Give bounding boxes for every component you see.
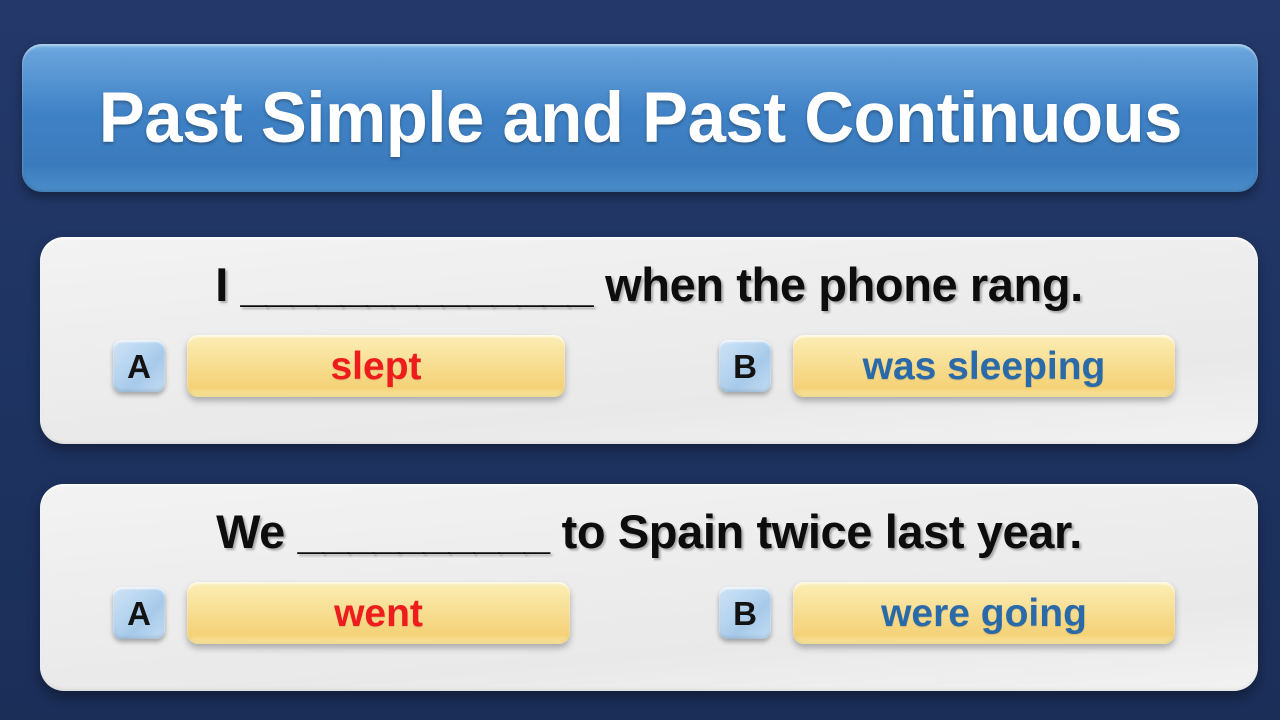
question-2-option-a[interactable]: A went — [113, 582, 570, 644]
question-1-blank: ______________ — [241, 258, 593, 311]
question-1-options: A slept B was sleeping — [40, 335, 1258, 415]
question-2-sentence-before: We — [216, 505, 298, 558]
question-1-sentence: I ______________ when the phone rang. — [40, 257, 1258, 312]
answer-button-2a[interactable]: went — [187, 582, 570, 644]
question-1-option-b[interactable]: B was sleeping — [719, 335, 1175, 397]
question-1-sentence-after: when the phone rang. — [592, 258, 1082, 311]
question-2-option-b[interactable]: B were going — [719, 582, 1175, 644]
page-title: Past Simple and Past Continuous — [98, 83, 1181, 154]
question-card-1: I ______________ when the phone rang. A … — [40, 237, 1258, 444]
option-badge-b: B — [719, 587, 771, 639]
question-1-option-a[interactable]: A slept — [113, 335, 565, 397]
slide-root: Past Simple and Past Continuous I ______… — [0, 0, 1280, 720]
question-card-2: We __________ to Spain twice last year. … — [40, 484, 1258, 691]
question-2-options: A went B were going — [40, 582, 1258, 662]
answer-button-1b[interactable]: was sleeping — [793, 335, 1175, 397]
question-2-blank: __________ — [298, 505, 549, 558]
answer-button-1a[interactable]: slept — [187, 335, 565, 397]
question-2-sentence-after: to Spain twice last year. — [549, 505, 1082, 558]
option-badge-a: A — [113, 587, 165, 639]
question-2-sentence: We __________ to Spain twice last year. — [40, 504, 1258, 559]
option-badge-b: B — [719, 340, 771, 392]
question-1-sentence-before: I — [215, 258, 240, 311]
answer-button-2b[interactable]: were going — [793, 582, 1175, 644]
title-banner: Past Simple and Past Continuous — [22, 44, 1258, 192]
option-badge-a: A — [113, 340, 165, 392]
